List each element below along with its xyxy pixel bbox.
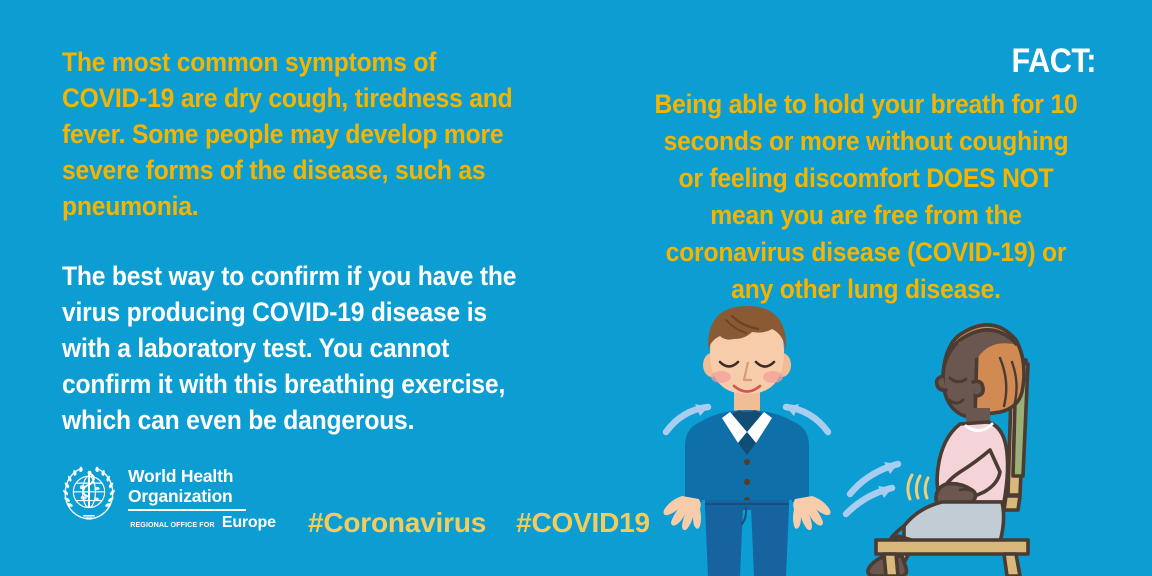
standing-man-figure [664,306,831,576]
who-logo: World Health Organization REGIONAL OFFIC… [60,464,276,532]
who-region-prefix: REGIONAL OFFICE FOR [130,520,214,529]
left-text-column: The most common symptoms of COVID-19 are… [62,44,552,438]
who-line-1: World Health [128,466,276,486]
who-wordmark: World Health Organization REGIONAL OFFIC… [128,464,276,532]
who-region-name: Europe [222,514,276,532]
fact-heading: FACT: [682,42,1096,80]
who-region-row: REGIONAL OFFICE FOR Europe [128,514,276,532]
who-covid-infographic: The most common symptoms of COVID-19 are… [0,0,1152,576]
illustration-svg [660,300,1152,576]
hashtag-covid19[interactable]: #COVID19 [516,506,650,540]
fact-text-column: FACT: Being able to hold your breath for… [636,42,1096,308]
seated-woman-figure [846,325,1028,576]
confirmation-paragraph: The best way to confirm if you have the … [62,258,518,438]
breath-arrows-woman [846,462,898,514]
symptoms-paragraph: The most common symptoms of COVID-19 are… [62,44,518,224]
breathing-exercise-illustration [660,300,1152,576]
who-line-2: Organization [128,486,276,506]
hashtag-coronavirus[interactable]: #Coronavirus [308,506,486,540]
hashtag-row: #Coronavirus #COVID19 [308,506,650,540]
who-divider [128,509,246,511]
fact-body-paragraph: Being able to hold your breath for 10 se… [652,86,1080,308]
who-emblem-icon [60,464,118,522]
